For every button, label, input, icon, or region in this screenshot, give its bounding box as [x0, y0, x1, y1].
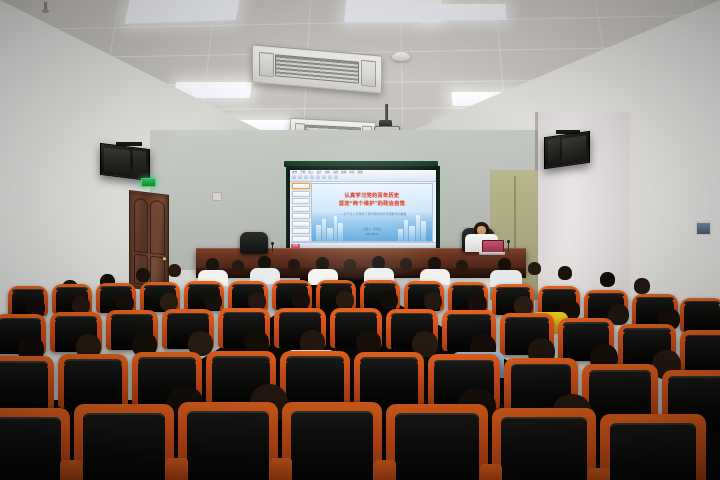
right-wall-speaker [544, 131, 590, 169]
ribbon-tool-icon[interactable] [304, 175, 308, 179]
presenter-laptop-base [479, 252, 505, 255]
ribbon-tool-icon[interactable] [310, 175, 314, 179]
audience-head [380, 291, 398, 309]
audience-head [168, 264, 181, 277]
audience-head [400, 258, 412, 270]
auditorium-seat[interactable] [680, 330, 720, 375]
projection-screen: 文件 开始 插入 设计 切换 动画 放映 审阅 视图 [286, 166, 440, 252]
audience-head [558, 266, 572, 280]
auditorium-seat[interactable] [74, 404, 174, 480]
audience-head [136, 268, 150, 282]
ceiling-light-panel [420, 4, 507, 20]
status-badge: 放映 [291, 244, 300, 248]
slide-thumbnail[interactable] [292, 228, 310, 234]
audience-head [336, 291, 354, 309]
auditorium-photo: 文件 开始 插入 设计 切换 动画 放映 审阅 视图 [0, 0, 720, 480]
slide-thumbnail[interactable] [292, 206, 310, 212]
audience-head [528, 262, 541, 275]
audience-head [344, 259, 356, 271]
audience-head [232, 260, 244, 272]
wall-control-panel[interactable] [696, 222, 711, 235]
left-wall-speaker [100, 143, 150, 181]
ribbon-tool-icon[interactable] [298, 175, 302, 179]
ribbon-tool-icon[interactable] [334, 175, 338, 179]
seat-armrest [270, 458, 292, 480]
empty-executive-chair[interactable] [240, 232, 268, 254]
door-knob-icon[interactable] [163, 257, 166, 260]
ribbon-tool-icon[interactable] [322, 175, 326, 179]
left-wall-outlet [212, 192, 222, 201]
ribbon-tab[interactable]: 放映 [341, 171, 346, 175]
smoke-detector-icon [392, 52, 410, 61]
auditorium-seat[interactable] [0, 356, 54, 410]
slide-thumbnail-panel[interactable] [291, 182, 312, 243]
slide-date-label: 2021.06.21 [366, 233, 379, 237]
ceiling-light-panel [125, 0, 241, 24]
audience-head [634, 278, 650, 294]
audience-head [424, 292, 442, 310]
seat-armrest [60, 460, 82, 480]
seat-armrest [480, 464, 502, 480]
auditorium-seat[interactable] [282, 402, 382, 480]
table-microphone-icon [508, 242, 509, 252]
auditorium-seat[interactable] [386, 404, 488, 480]
audience-head [600, 272, 615, 287]
active-slide: 认真学习党的百年历史 坚定“两个维护”的政治自觉 ——关于深入开展学习贯彻党的历… [311, 183, 433, 242]
powerpoint-ribbon: 文件 开始 插入 设计 切换 动画 放映 审阅 视图 [290, 170, 436, 182]
emergency-exit-sign [141, 178, 156, 187]
ribbon-tool-icon[interactable] [292, 175, 296, 179]
seat-armrest [374, 460, 396, 480]
slide-title-line-1: 认真学习党的百年历史 [316, 193, 428, 200]
slide-thumbnail[interactable] [292, 221, 310, 227]
room-shell: 文件 开始 插入 设计 切换 动画 放映 审阅 视图 [0, 0, 720, 480]
sprinkler-head-icon [44, 2, 47, 11]
head-table-skirt [196, 268, 526, 278]
exit-sign-green-face [142, 179, 155, 186]
ribbon-tab[interactable]: 审阅 [349, 171, 354, 175]
powerpoint-window: 文件 开始 插入 设计 切换 动画 放映 审阅 视图 [290, 170, 436, 248]
auditorium-seat[interactable] [178, 402, 278, 480]
auditorium-seat[interactable] [58, 354, 128, 408]
auditorium-seat[interactable] [280, 351, 350, 405]
seat-armrest [166, 458, 188, 480]
auditorium-seat[interactable] [492, 408, 596, 480]
slide-thumbnail[interactable] [292, 198, 310, 204]
seat-armrest [588, 468, 610, 480]
slide-thumbnail[interactable] [292, 191, 310, 197]
slide-title-line-2: 坚定“两个维护”的政治自觉 [316, 201, 428, 208]
auditorium-seat[interactable] [680, 298, 720, 332]
ribbon-tool-icon[interactable] [316, 175, 320, 179]
ribbon-tab[interactable]: 视图 [358, 171, 363, 175]
audience-head [292, 291, 310, 309]
auditorium-seat[interactable] [354, 352, 424, 406]
audience-head [288, 259, 300, 271]
ribbon-tool-icon[interactable] [328, 175, 332, 179]
slide-presenter-label: 主讲人：张书记 [363, 228, 381, 232]
slide-thumbnail[interactable] [292, 183, 310, 189]
slide-thumbnail[interactable] [292, 213, 310, 219]
ribbon-icon-row [292, 175, 338, 179]
table-microphone-icon [272, 244, 273, 252]
audience-head [456, 260, 468, 272]
auditorium-seat[interactable] [600, 414, 706, 480]
